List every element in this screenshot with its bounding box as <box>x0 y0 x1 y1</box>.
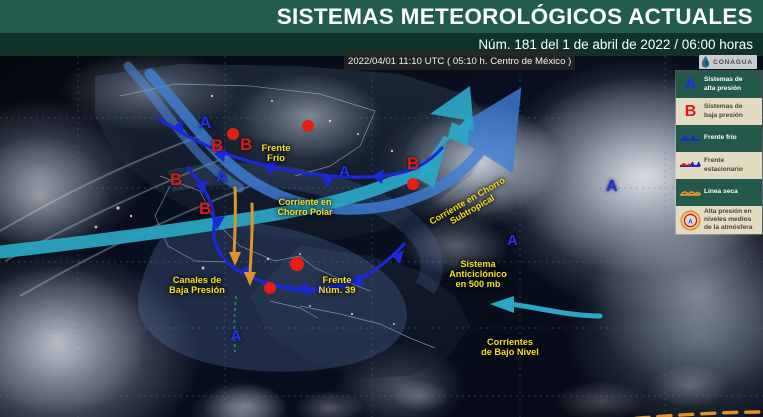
timestamp-bar: 2022/04/01 11:10 UTC ( 05:10 h. Centro d… <box>344 50 575 70</box>
timestamp-text: 2022/04/01 11:10 UTC ( 05:10 h. Centro d… <box>348 56 571 67</box>
water-drop-icon <box>701 56 710 68</box>
legend-item-cold-front: Frente frío <box>676 125 762 152</box>
svg-text:A: A <box>688 218 693 225</box>
legend-item-stationary-front: Frente estacionario <box>676 152 762 179</box>
mid-level-high-icon: A <box>678 209 703 231</box>
legend-item-high-pressure: A Sistemas de alta presión <box>676 71 762 98</box>
legend-panel: A Sistemas de alta presión B Sistemas de… <box>675 70 763 235</box>
dry-line-icon <box>678 182 703 204</box>
legend-item-mid-level-high: A Alta presión en niveles medios de la a… <box>676 206 762 234</box>
legend-label: Sistemas de baja presión <box>703 103 743 119</box>
cold-front-icon <box>678 128 703 150</box>
page-title: SISTEMAS METEOROLÓGICOS ACTUALES <box>277 1 753 32</box>
conagua-logo: CONAGUA <box>699 55 757 69</box>
legend-label: Sistemas de alta presión <box>703 76 742 92</box>
legend-label: Alta presión en niveles medios de la atm… <box>703 208 752 232</box>
low-level-current-arrow <box>0 56 763 417</box>
satellite-map: A B B B A B B A A A A B Frente Frío Corr… <box>0 56 763 417</box>
low-pressure-b-icon: B <box>678 101 703 123</box>
stationary-front-icon <box>678 155 703 177</box>
legend-label: Frente estacionario <box>703 157 743 173</box>
legend-item-dry-line: Línea seca <box>676 179 762 206</box>
high-pressure-a-icon: A <box>678 74 703 96</box>
legend-label: Frente frío <box>703 134 737 142</box>
legend-label: Línea seca <box>703 188 738 196</box>
conagua-label: CONAGUA <box>713 59 753 66</box>
legend-item-low-pressure: B Sistemas de baja presión <box>676 98 762 125</box>
weather-map-screenshot: SISTEMAS METEOROLÓGICOS ACTUALES Núm. 18… <box>0 0 763 417</box>
